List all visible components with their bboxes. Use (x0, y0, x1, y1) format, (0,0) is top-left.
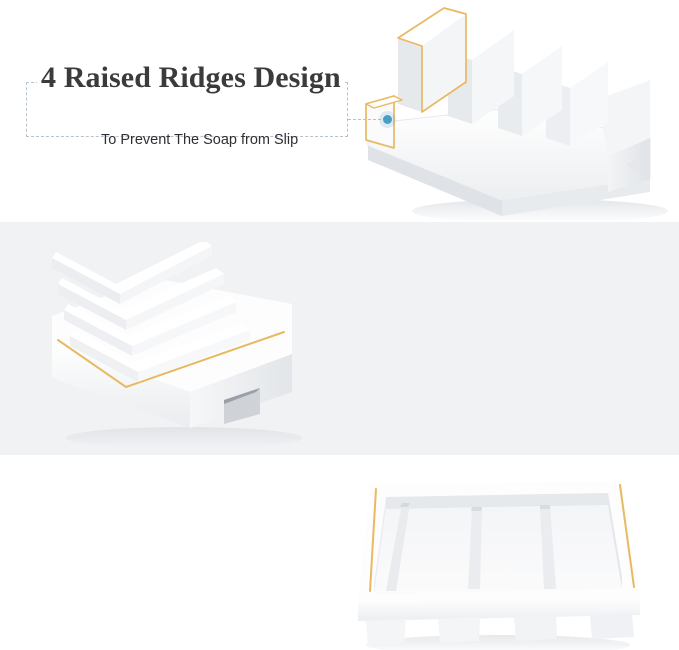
panel-1-headline: 4 Raised Ridges Design (41, 63, 361, 93)
panel-raised-ridges: 4 Raised Ridges Design To Prevent The So… (0, 0, 679, 222)
soap-rack-slope-illustration (34, 242, 334, 452)
callout-raised-ridges: 4 Raised Ridges Design To Prevent The So… (26, 82, 348, 137)
callout-dashed-box: 4 Raised Ridges Design To Prevent The So… (26, 82, 348, 137)
ridge-highlight-dot (383, 115, 392, 124)
subline-backdrop (97, 97, 281, 117)
panel-stable-structure: Stable Struture Keep the Bottom of Soap … (0, 455, 679, 650)
soap-rack-angled-ridges-illustration (350, 0, 679, 222)
infographic-root: 4 Raised Ridges Design To Prevent The So… (0, 0, 679, 650)
panel-1-subline: To Prevent The Soap from Slip (101, 133, 421, 148)
soap-rack-base-tray-illustration (340, 463, 655, 650)
panel-slope-design: Slope Design Dain Water Faster Anti-Slip (0, 222, 679, 455)
